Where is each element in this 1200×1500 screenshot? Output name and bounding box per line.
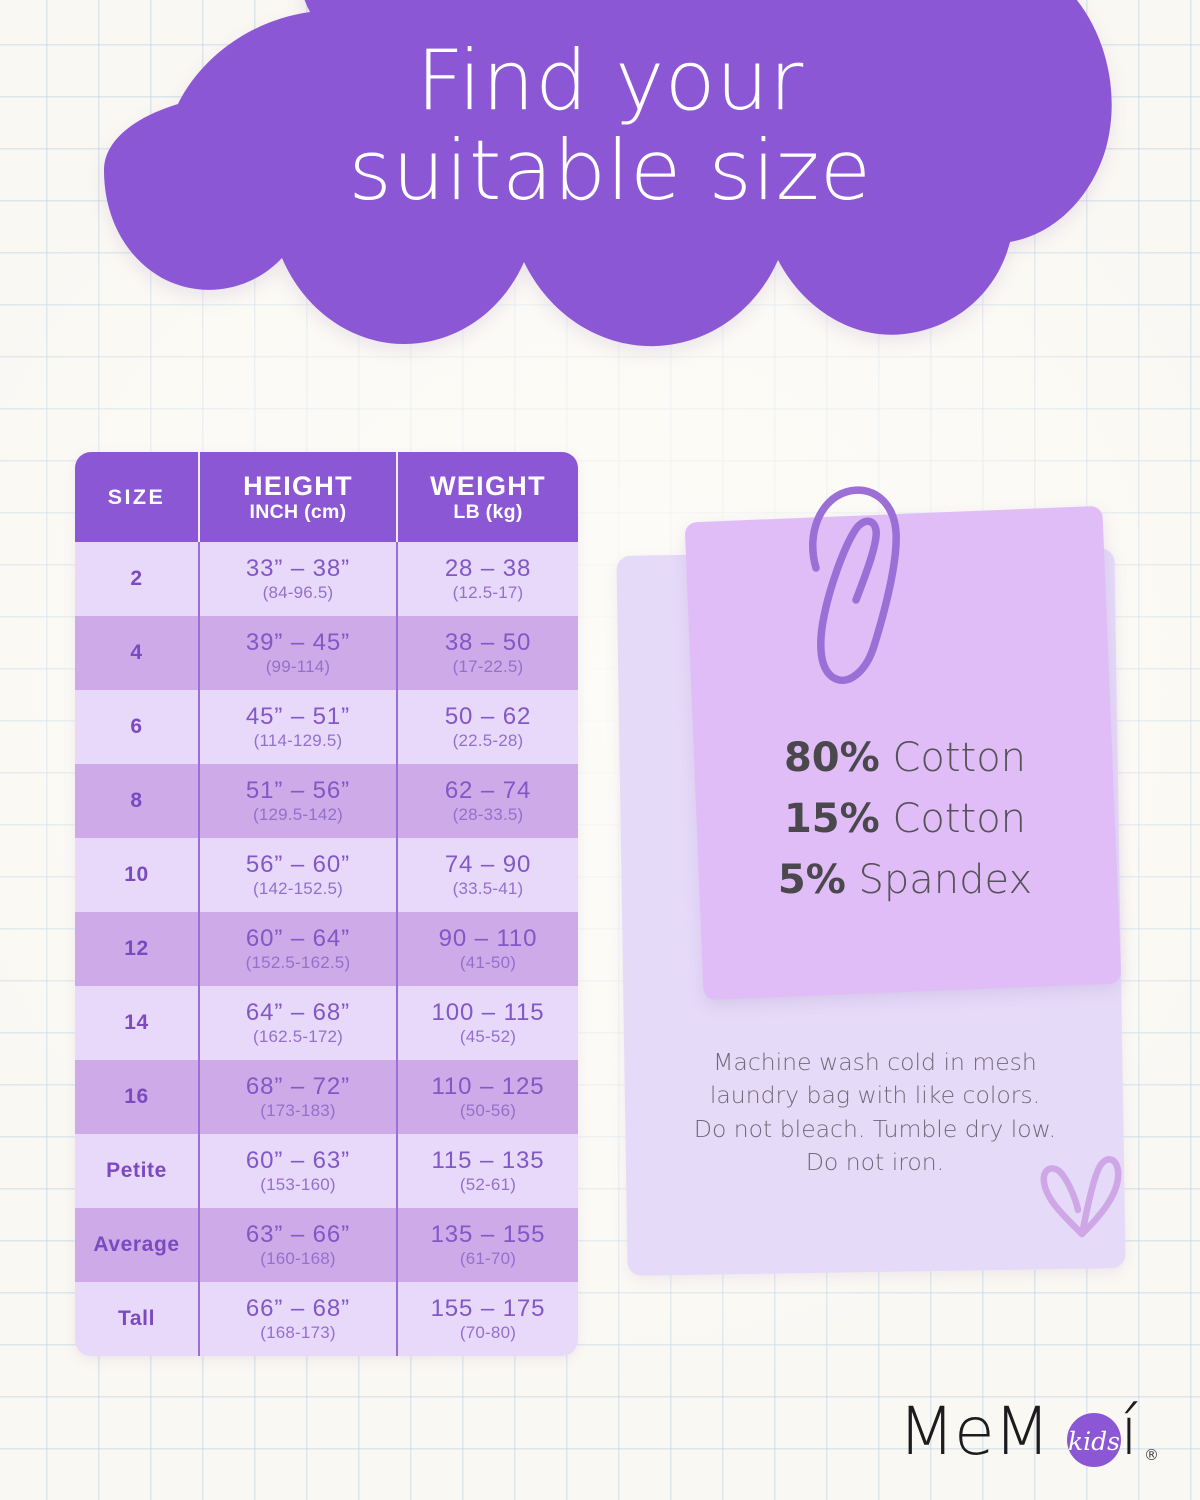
cell-height: 63” – 66”(160-168) bbox=[198, 1208, 396, 1282]
table-row: 2 33” – 38”(84-96.5) 28 – 38(12.5-17) bbox=[75, 542, 578, 616]
cell-weight: 115 – 135(52-61) bbox=[396, 1134, 578, 1208]
cell-weight: 155 – 175(70-80) bbox=[396, 1282, 578, 1356]
composition-percent: 5% bbox=[778, 857, 846, 903]
cell-weight: 74 – 90(33.5-41) bbox=[396, 838, 578, 912]
table-row: 6 45” – 51”(114-129.5) 50 – 62(22.5-28) bbox=[75, 690, 578, 764]
composition-material: Cotton bbox=[892, 796, 1026, 842]
table-row: 10 56” – 60”(142-152.5) 74 – 90(33.5-41) bbox=[75, 838, 578, 912]
cell-size: 14 bbox=[75, 986, 198, 1060]
cell-weight: 90 – 110(41-50) bbox=[396, 912, 578, 986]
care-line: Do not bleach. Tumble dry low. bbox=[660, 1113, 1090, 1146]
cell-weight: 50 – 62(22.5-28) bbox=[396, 690, 578, 764]
table-row: Petite 60” – 63”(153-160) 115 – 135(52-6… bbox=[75, 1134, 578, 1208]
cell-weight: 38 – 50(17-22.5) bbox=[396, 616, 578, 690]
logo-kids-label: kids bbox=[1068, 1427, 1120, 1456]
composition-percent: 80% bbox=[784, 735, 880, 781]
heart-icon bbox=[1036, 1148, 1128, 1246]
cell-weight: 62 – 74(28-33.5) bbox=[396, 764, 578, 838]
composition-material: Cotton bbox=[892, 735, 1026, 781]
care-line: laundry bag with like colors. bbox=[660, 1079, 1090, 1112]
logo-text-i: í bbox=[1120, 1393, 1138, 1470]
cell-height: 39” – 45”(99-114) bbox=[198, 616, 396, 690]
cell-size: 12 bbox=[75, 912, 198, 986]
page-title-line-2: suitable size bbox=[104, 126, 1116, 216]
brand-logo: MeM kids í ® bbox=[898, 1392, 1170, 1478]
cell-height: 60” – 64”(152.5-162.5) bbox=[198, 912, 396, 986]
cell-height: 66” – 68”(168-173) bbox=[198, 1282, 396, 1356]
cell-size: Petite bbox=[75, 1134, 198, 1208]
cell-height: 33” – 38”(84-96.5) bbox=[198, 542, 396, 616]
page-title-line-1: Find your bbox=[104, 36, 1116, 126]
composition-percent: 15% bbox=[784, 796, 880, 842]
paperclip-icon bbox=[800, 476, 910, 696]
cell-height: 64” – 68”(162.5-172) bbox=[198, 986, 396, 1060]
column-header-size: SIZE bbox=[75, 452, 198, 542]
table-row: Tall 66” – 68”(168-173) 155 – 175(70-80) bbox=[75, 1282, 578, 1356]
cell-size: 2 bbox=[75, 542, 198, 616]
table-row: Average 63” – 66”(160-168) 135 – 155(61-… bbox=[75, 1208, 578, 1282]
composition-line: 5% Spandex bbox=[680, 850, 1130, 911]
cell-height: 45” – 51”(114-129.5) bbox=[198, 690, 396, 764]
size-chart-table: SIZE HEIGHT INCH (cm) WEIGHT LB (kg) 2 3… bbox=[75, 452, 578, 1356]
table-row: 4 39” – 45”(99-114) 38 – 50(17-22.5) bbox=[75, 616, 578, 690]
cell-size: Tall bbox=[75, 1282, 198, 1356]
table-row: 14 64” – 68”(162.5-172) 100 – 115(45-52) bbox=[75, 986, 578, 1060]
cell-height: 68” – 72”(173-183) bbox=[198, 1060, 396, 1134]
composition-line: 80% Cotton bbox=[680, 728, 1130, 789]
cell-weight: 100 – 115(45-52) bbox=[396, 986, 578, 1060]
fabric-composition: 80% Cotton 15% Cotton 5% Spandex bbox=[680, 728, 1130, 912]
cell-size: 8 bbox=[75, 764, 198, 838]
logo-trademark: ® bbox=[1144, 1446, 1159, 1464]
cell-size: 10 bbox=[75, 838, 198, 912]
column-header-height: HEIGHT INCH (cm) bbox=[198, 452, 396, 542]
table-row: 12 60” – 64”(152.5-162.5) 90 – 110(41-50… bbox=[75, 912, 578, 986]
cell-height: 60” – 63”(153-160) bbox=[198, 1134, 396, 1208]
care-line: Machine wash cold in mesh bbox=[660, 1046, 1090, 1079]
care-instructions: Machine wash cold in mesh laundry bag wi… bbox=[660, 1046, 1090, 1179]
cell-weight: 28 – 38(12.5-17) bbox=[396, 542, 578, 616]
logo-text-memo: MeM bbox=[898, 1393, 1050, 1470]
cell-height: 51” – 56”(129.5-142) bbox=[198, 764, 396, 838]
page-title: Find your suitable size bbox=[104, 36, 1116, 217]
table-row: 16 68” – 72”(173-183) 110 – 125(50-56) bbox=[75, 1060, 578, 1134]
cell-weight: 110 – 125(50-56) bbox=[396, 1060, 578, 1134]
care-line: Do not iron. bbox=[660, 1146, 1090, 1179]
column-header-weight: WEIGHT LB (kg) bbox=[396, 452, 578, 542]
cell-size: 16 bbox=[75, 1060, 198, 1134]
cell-size: 6 bbox=[75, 690, 198, 764]
composition-material: Spandex bbox=[859, 857, 1033, 903]
table-header-row: SIZE HEIGHT INCH (cm) WEIGHT LB (kg) bbox=[75, 452, 578, 542]
composition-line: 15% Cotton bbox=[680, 789, 1130, 850]
cell-height: 56” – 60”(142-152.5) bbox=[198, 838, 396, 912]
cell-size: Average bbox=[75, 1208, 198, 1282]
cell-weight: 135 – 155(61-70) bbox=[396, 1208, 578, 1282]
cell-size: 4 bbox=[75, 616, 198, 690]
table-row: 8 51” – 56”(129.5-142) 62 – 74(28-33.5) bbox=[75, 764, 578, 838]
